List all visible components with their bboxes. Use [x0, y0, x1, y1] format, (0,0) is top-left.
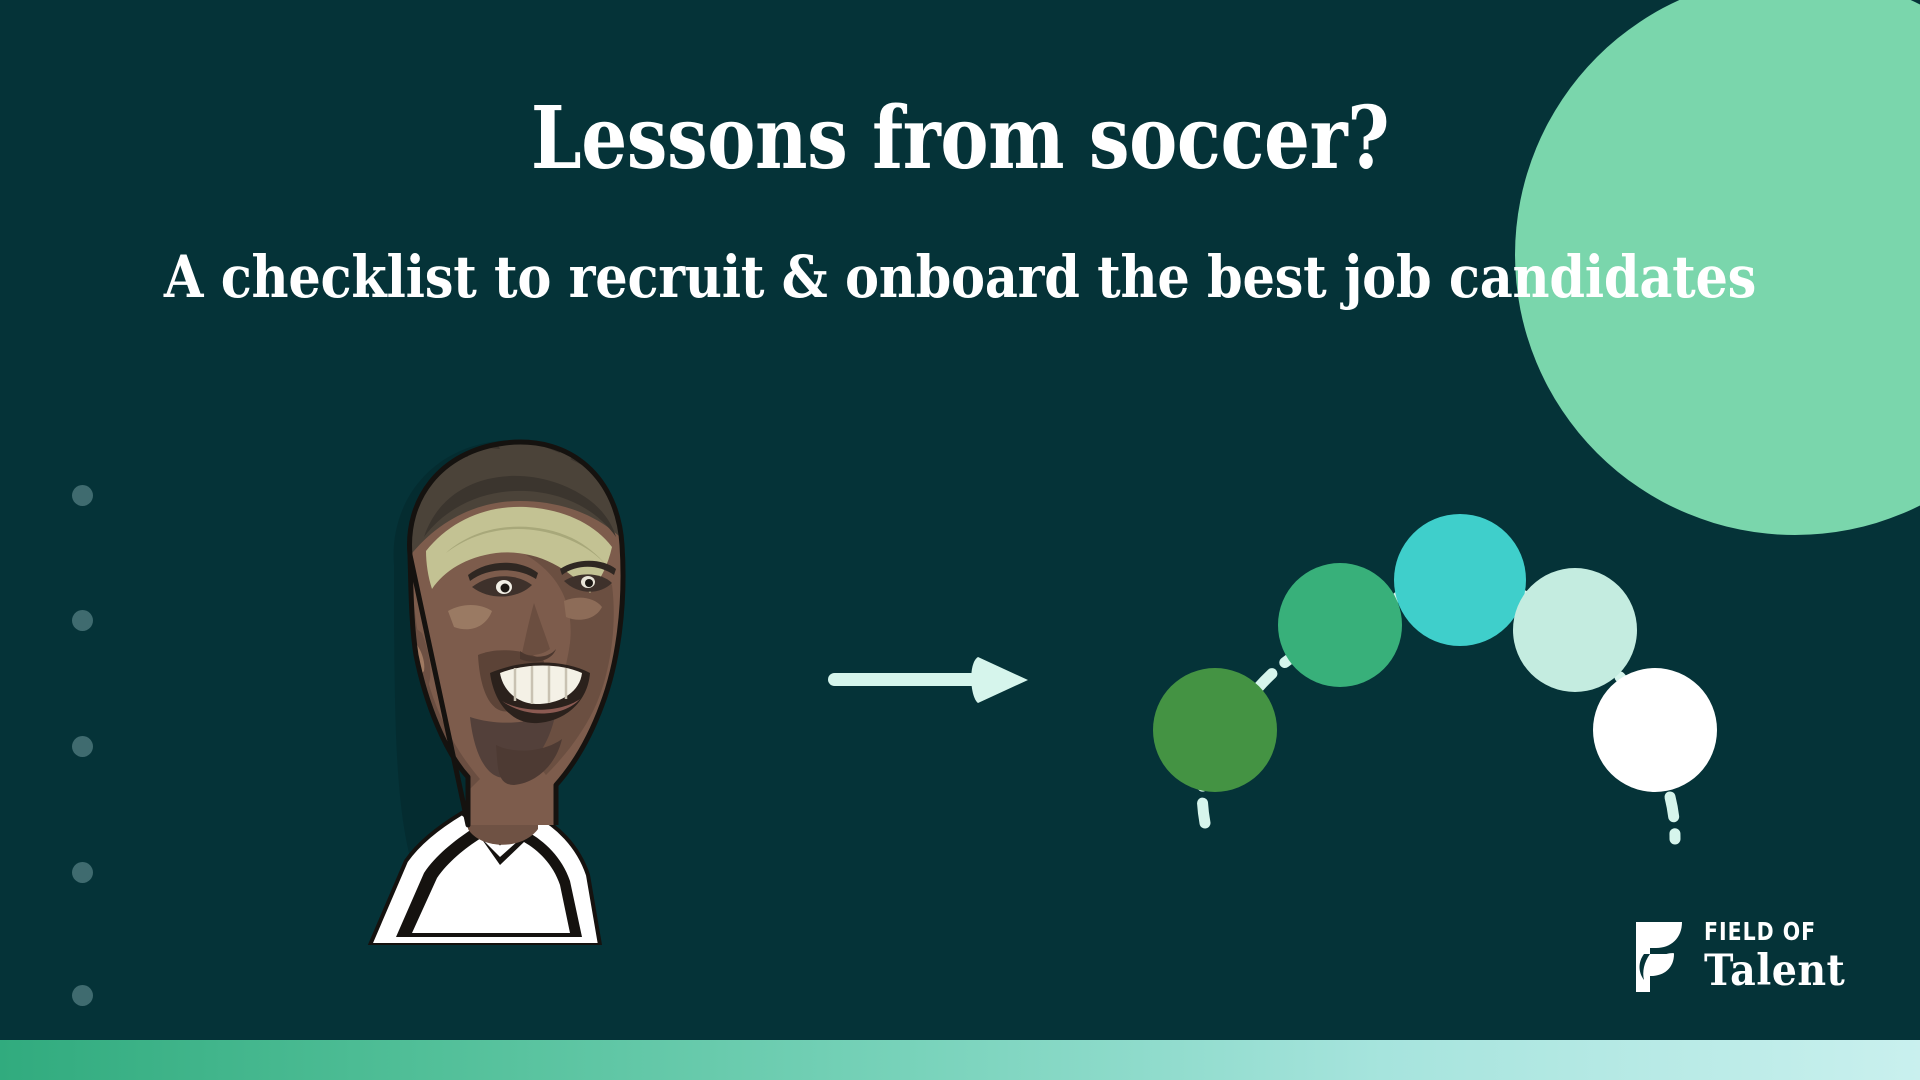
- left-dot-1: [72, 485, 93, 506]
- left-dot-2: [72, 610, 93, 631]
- stage-node-5: [1593, 668, 1717, 792]
- title-block: Lessons from soccer?: [0, 96, 1920, 182]
- logo-line-talent: Talent: [1704, 950, 1845, 993]
- brand-logo: FIELD OF Talent: [1626, 918, 1858, 994]
- right-arrow-icon: [828, 645, 1043, 715]
- page-title: Lessons from soccer?: [154, 96, 1767, 182]
- left-dot-column: [72, 485, 96, 1005]
- stage-node-2: [1278, 563, 1402, 687]
- stage-arc-diagram: [1150, 505, 1730, 845]
- left-dot-4: [72, 862, 93, 883]
- left-dot-5: [72, 985, 93, 1006]
- page-subtitle: A checklist to recruit & onboard the bes…: [115, 248, 1805, 306]
- connector-tail-right: [1670, 797, 1675, 839]
- subtitle-block: A checklist to recruit & onboard the bes…: [0, 248, 1920, 306]
- logo-wordmark: FIELD OF Talent: [1704, 919, 1858, 993]
- stage-node-3: [1394, 514, 1526, 646]
- slide-canvas: Lessons from soccer? A checklist to recr…: [0, 0, 1920, 1080]
- logo-line-field-of: FIELD OF: [1704, 919, 1830, 944]
- left-dot-3: [72, 736, 93, 757]
- field-of-talent-leaf-f-icon: [1626, 918, 1688, 994]
- player-portrait-illustration: [350, 405, 680, 945]
- stage-node-1: [1153, 668, 1277, 792]
- stage-node-4: [1513, 568, 1637, 692]
- bottom-gradient-bar: [0, 1040, 1920, 1080]
